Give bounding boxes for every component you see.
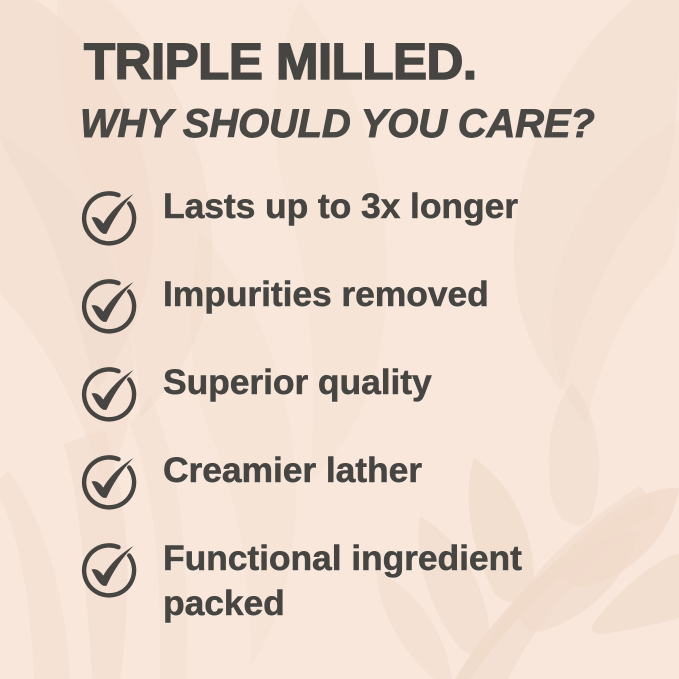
poster-content: TRIPLE MILLED. WHY SHOULD YOU CARE? Last… — [0, 0, 679, 679]
check-circle-icon — [72, 454, 144, 514]
benefits-list: Lasts up to 3x longer Impurities removed — [0, 186, 679, 626]
check-circle-icon — [72, 190, 144, 250]
list-item: Superior quality — [0, 362, 679, 450]
list-item: Creamier lather — [0, 450, 679, 538]
check-circle-icon — [72, 366, 144, 426]
triple-milled-benefits-poster: TRIPLE MILLED. WHY SHOULD YOU CARE? Last… — [0, 0, 679, 679]
check-circle-icon — [72, 278, 144, 338]
list-item: Lasts up to 3x longer — [0, 186, 679, 274]
page-subtitle: WHY SHOULD YOU CARE? — [80, 104, 595, 144]
list-item: Impurities removed — [0, 274, 679, 362]
check-circle-icon — [72, 542, 144, 602]
list-item-label: Superior quality — [163, 360, 663, 405]
list-item-label: Impurities removed — [163, 272, 663, 317]
list-item-label: Creamier lather — [163, 448, 663, 493]
list-item-label: Functional ingredient packed — [163, 536, 593, 626]
list-item: Functional ingredient packed — [0, 538, 679, 626]
page-title: TRIPLE MILLED. — [84, 36, 476, 87]
list-item-label: Lasts up to 3x longer — [163, 184, 663, 229]
